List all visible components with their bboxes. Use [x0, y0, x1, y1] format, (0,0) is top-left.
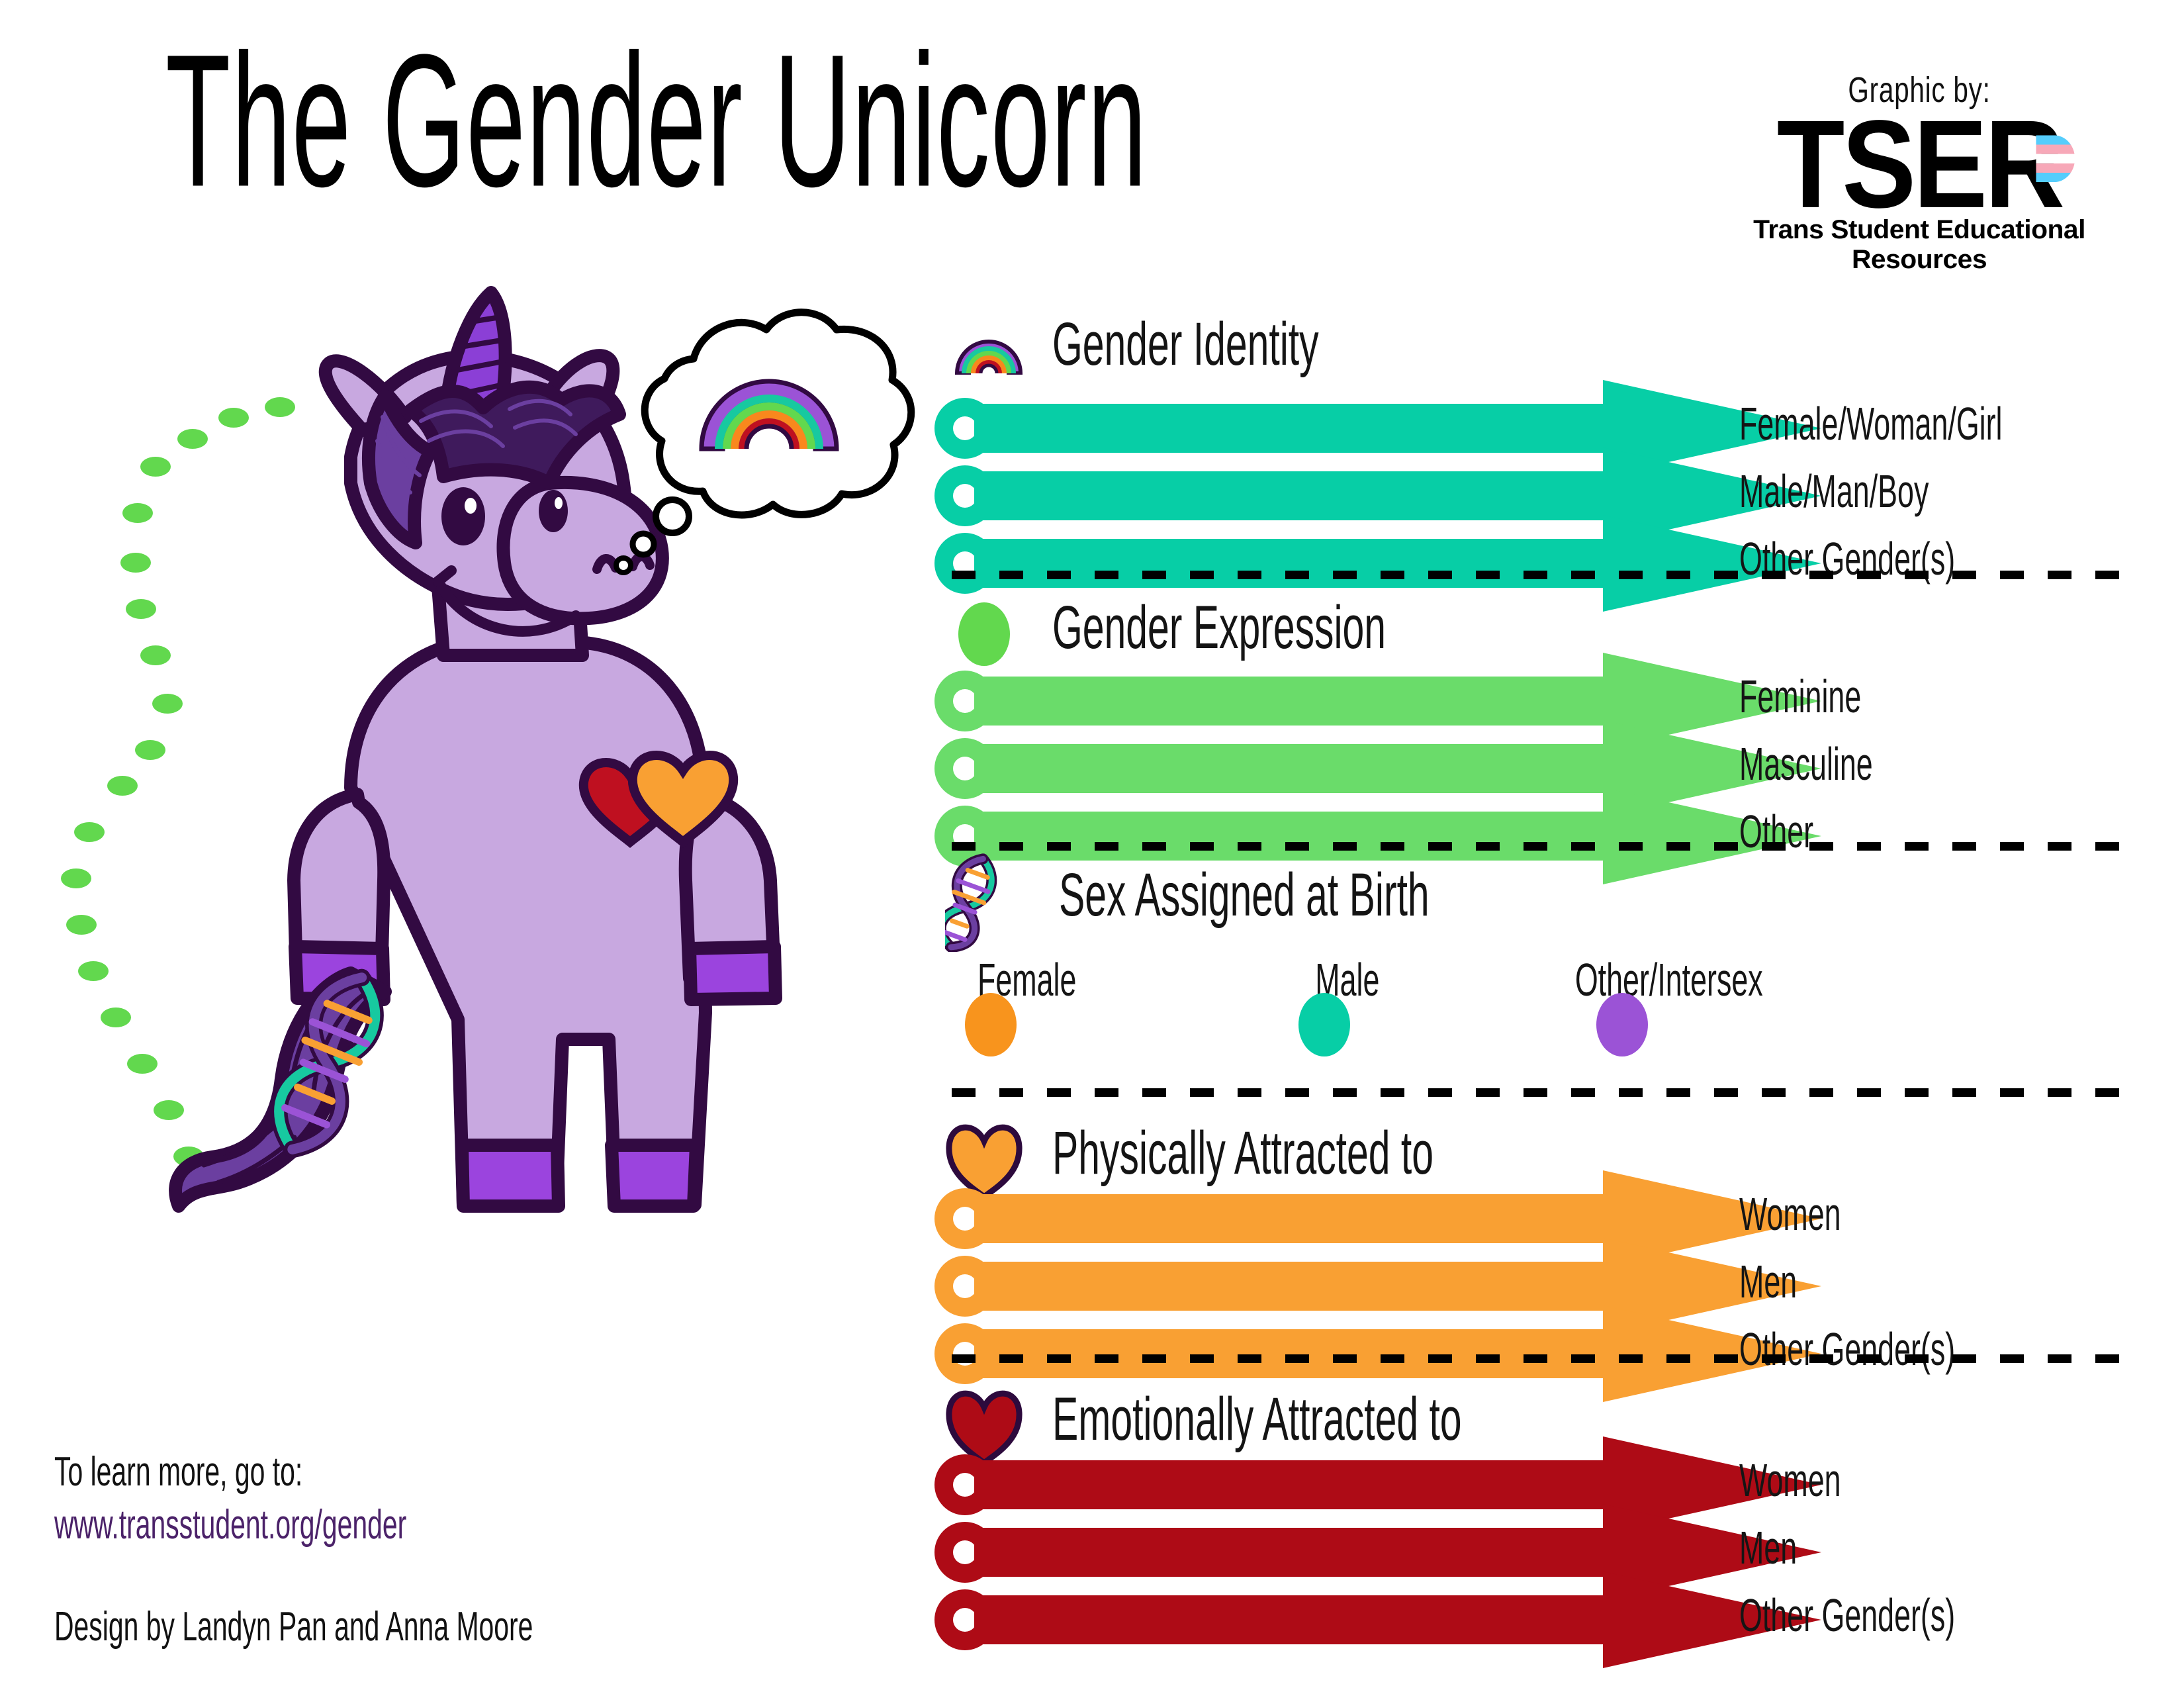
- arrow-bar: [974, 539, 1603, 588]
- section-divider-2: [952, 842, 2136, 851]
- section-divider-4: [952, 1354, 2136, 1363]
- arrow-bar: [974, 404, 1603, 453]
- orange-heart-icon: [945, 1119, 1023, 1199]
- trans-flag-icon: [2036, 135, 2075, 182]
- section-title-physically-attracted-to: Physically Attracted to: [1052, 1119, 1433, 1188]
- arrow-bulb-hole: [953, 416, 977, 440]
- tser-full-name: Trans Student Educational Resources: [1730, 215, 2108, 275]
- green-circle-icon: [958, 602, 1010, 666]
- arrow-bar: [974, 1194, 1603, 1243]
- website-url[interactable]: www.transstudent.org/gender: [54, 1501, 406, 1548]
- arrow-bar: [974, 1595, 1603, 1644]
- section-title-gender-identity: Gender Identity: [1052, 310, 1319, 379]
- arrow-bulb-hole: [953, 1540, 977, 1564]
- thought-bubble: [609, 298, 927, 576]
- section-title-gender-expression: Gender Expression: [1052, 593, 1386, 663]
- learn-more-label: To learn more, go to:: [54, 1448, 302, 1495]
- arrow-bulb-hole: [953, 1207, 977, 1231]
- label-emotionally-women: Women: [1739, 1454, 1841, 1507]
- arrow-bulb-hole: [953, 1473, 977, 1497]
- label-masculine: Masculine: [1739, 737, 1873, 790]
- arrow-bar: [974, 1329, 1603, 1378]
- sab-dot-male[interactable]: [1298, 993, 1350, 1056]
- label-physically-women: Women: [1739, 1188, 1841, 1241]
- arrow-bar: [974, 1528, 1603, 1577]
- rainbow-arch-icon: [953, 318, 1024, 375]
- section-title-sex-assigned-at-birth: Sex Assigned at Birth: [1059, 861, 1430, 930]
- label-feminine: Feminine: [1739, 670, 1861, 723]
- arrow-bulb-hole: [953, 689, 977, 713]
- sab-dot-female[interactable]: [965, 993, 1017, 1056]
- sab-dot-other-intersex[interactable]: [1596, 993, 1648, 1056]
- section-divider-1: [952, 571, 2136, 579]
- red-heart-icon: [945, 1385, 1023, 1466]
- arrow-bar: [974, 471, 1603, 520]
- arrow-bulb-hole: [953, 1608, 977, 1632]
- arrow-bar: [974, 744, 1603, 793]
- design-credit: Design by Landyn Pan and Anna Moore: [54, 1603, 533, 1650]
- arrow-bulb-hole: [953, 757, 977, 780]
- dna-helix-icon: [945, 853, 1031, 952]
- tser-logo: Graphic by: TSER Trans Student Education…: [1734, 70, 2105, 275]
- section-title-emotionally-attracted-to: Emotionally Attracted to: [1052, 1385, 1462, 1454]
- label-physically-men: Men: [1739, 1255, 1797, 1308]
- tser-acronym-text: TSER: [1776, 94, 2062, 234]
- arrow-bar: [974, 812, 1603, 861]
- arrow-bar: [974, 677, 1603, 726]
- label-emotionally-men: Men: [1739, 1521, 1797, 1574]
- label-female-woman-girl: Female/Woman/Girl: [1739, 397, 2003, 450]
- section-divider-3: [952, 1088, 2136, 1097]
- label-sab-other-intersex: Other/Intersex: [1575, 953, 1763, 1006]
- arrow-bulb-hole: [953, 484, 977, 508]
- tser-acronym: TSER: [1776, 106, 2062, 223]
- label-emotionally-other-genders: Other Gender(s): [1739, 1589, 1955, 1642]
- arrow-bulb-hole: [953, 1274, 977, 1298]
- label-physically-other-genders: Other Gender(s): [1739, 1323, 1955, 1376]
- arrow-bar: [974, 1262, 1603, 1311]
- label-male-man-boy: Male/Man/Boy: [1739, 465, 1929, 518]
- arrow-bar: [974, 1460, 1603, 1509]
